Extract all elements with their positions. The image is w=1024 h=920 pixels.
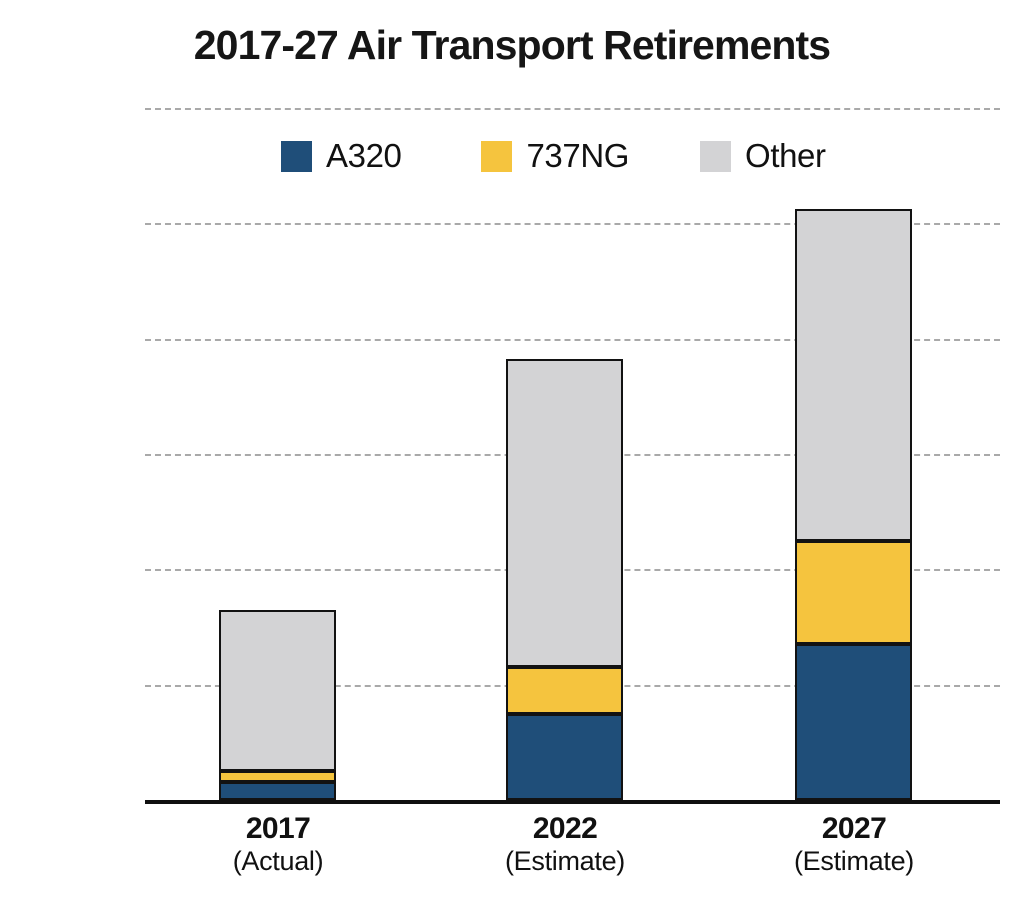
x-axis-tick-2027: 2027 (Estimate): [734, 812, 974, 877]
legend-item-737ng[interactable]: 737NG: [481, 137, 629, 175]
x-axis-tick-2027-year: 2027: [734, 812, 974, 846]
bar-stack-2017[interactable]: [219, 610, 336, 800]
bar-segment-2017-a320[interactable]: [219, 782, 336, 800]
legend-swatch-737ng-icon: [481, 141, 512, 172]
legend-label-other: Other: [745, 137, 826, 175]
x-axis-tick-2022-sublabel: (Estimate): [445, 846, 685, 877]
plot-area: [145, 108, 1000, 800]
legend-label-737ng: 737NG: [526, 137, 629, 175]
bar-segment-2022-other[interactable]: [506, 359, 623, 668]
legend-swatch-a320-icon: [281, 141, 312, 172]
bar-segment-2022-737ng[interactable]: [506, 667, 623, 713]
stacked-bar-chart: 2017-27 Air Transport Retirements 1,200 …: [0, 0, 1024, 920]
x-axis-tick-2017-year: 2017: [158, 812, 398, 846]
bar-segment-2022-a320[interactable]: [506, 714, 623, 801]
chart-legend: A320 737NG Other: [281, 137, 826, 175]
bar-stack-2027[interactable]: [795, 209, 912, 800]
legend-label-a320: A320: [326, 137, 401, 175]
x-axis-line: [145, 800, 1000, 804]
x-axis-tick-2017: 2017 (Actual): [158, 812, 398, 877]
legend-item-a320[interactable]: A320: [281, 137, 401, 175]
bar-segment-2027-other[interactable]: [795, 209, 912, 541]
bar-segment-2027-a320[interactable]: [795, 644, 912, 800]
bar-segment-2017-737ng[interactable]: [219, 771, 336, 781]
x-axis-tick-2017-sublabel: (Actual): [158, 846, 398, 877]
chart-title: 2017-27 Air Transport Retirements: [0, 22, 1024, 69]
bar-segment-2017-other[interactable]: [219, 610, 336, 771]
legend-item-other[interactable]: Other: [700, 137, 826, 175]
x-axis-tick-2022: 2022 (Estimate): [445, 812, 685, 877]
legend-swatch-other-icon: [700, 141, 731, 172]
x-axis-tick-2022-year: 2022: [445, 812, 685, 846]
bar-stack-2022[interactable]: [506, 359, 623, 800]
bar-segment-2027-737ng[interactable]: [795, 541, 912, 645]
gridline-1200: [145, 108, 1000, 110]
x-axis-tick-2027-sublabel: (Estimate): [734, 846, 974, 877]
